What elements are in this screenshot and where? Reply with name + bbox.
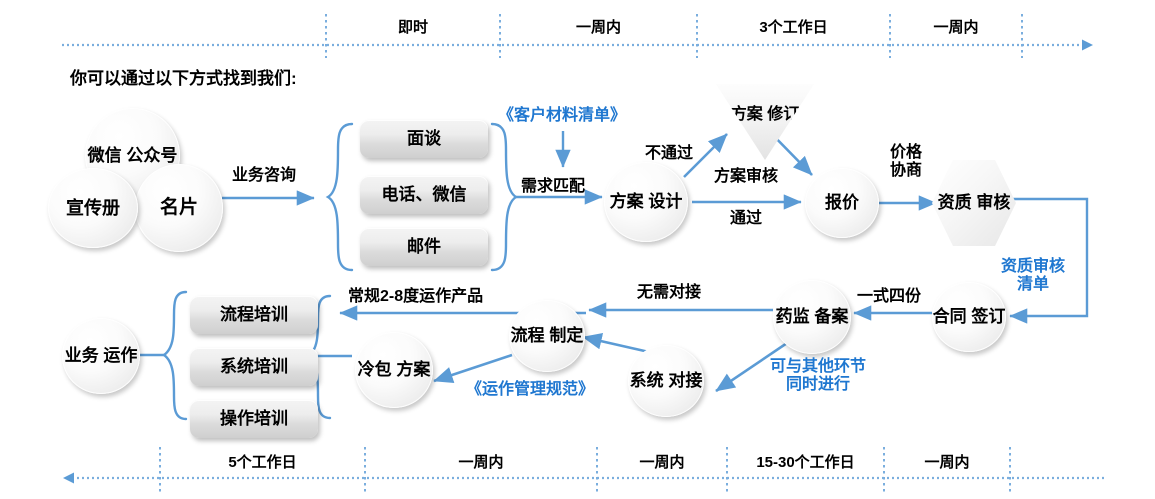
- node-email[interactable]: 邮件: [360, 228, 488, 266]
- edge-label-routine-2-8-degrees: 常规2-8度运作产品: [348, 288, 483, 306]
- edge-label-price-negotiation: 价格 协商: [890, 144, 922, 181]
- node-process-training[interactable]: 流程培训: [190, 296, 318, 334]
- flowchart-canvas: 你可以通过以下方式找到我们: 即时 一周内 3个工作日 一周内 5个工作日 一周…: [0, 0, 1155, 499]
- node-qualification-review[interactable]: 资质 审核: [932, 160, 1016, 246]
- node-wechat-official-label: 微信 公众号: [88, 146, 178, 165]
- node-business-operation-label: 业务 运作: [65, 346, 138, 365]
- node-plan-design[interactable]: 方案 设计: [604, 162, 688, 242]
- node-business-operation[interactable]: 业务 运作: [62, 318, 140, 394]
- bottom-timeline-segment-4: 一周内: [884, 451, 1010, 472]
- node-plan-design-label: 方案 设计: [610, 192, 683, 211]
- top-timeline-segment-0: 即时: [326, 16, 500, 37]
- node-plan-revision[interactable]: 方案 修订: [716, 84, 814, 160]
- edge-label-customer-material-list: 《客户材料清单》: [498, 107, 626, 125]
- node-process-training-label: 流程培训: [220, 305, 288, 324]
- edge-label-demand-matching: 需求匹配: [521, 178, 585, 196]
- node-contract-signing-label: 合同 签订: [933, 307, 1006, 326]
- node-system-training[interactable]: 系统培训: [190, 348, 318, 386]
- node-brochure[interactable]: 宣传册: [48, 168, 138, 248]
- node-cold-chain-plan-label: 冷包 方案: [358, 360, 431, 379]
- node-drug-filing[interactable]: 药监 备案: [773, 280, 851, 354]
- bottom-timeline-segment-2: 一周内: [597, 451, 727, 472]
- node-phone-wechat-label: 电话、微信: [382, 185, 467, 204]
- node-system-docking-label: 系统 对接: [630, 371, 703, 390]
- edge-label-not-passed: 不通过: [645, 145, 693, 163]
- node-phone-wechat[interactable]: 电话、微信: [360, 176, 488, 214]
- node-business-card-label: 名片: [160, 197, 198, 218]
- node-system-training-label: 系统培训: [220, 357, 288, 376]
- top-timeline-segment-1: 一周内: [500, 16, 697, 37]
- node-qualification-review-label: 资质 审核: [938, 193, 1011, 212]
- edge-label-passed: 通过: [730, 210, 762, 228]
- node-plan-revision-label: 方案 修订: [731, 106, 799, 124]
- node-brochure-label: 宣传册: [66, 198, 120, 218]
- note-parallel-step: 可与其他环节 同时进行: [770, 358, 866, 395]
- node-interview-label: 面谈: [407, 129, 441, 148]
- node-cold-chain-plan[interactable]: 冷包 方案: [355, 332, 433, 408]
- top-timeline-segment-3: 一周内: [890, 16, 1022, 37]
- edge-label-no-docking-needed: 无需对接: [637, 284, 701, 302]
- node-drug-filing-label: 药监 备案: [776, 307, 849, 326]
- node-interview[interactable]: 面谈: [360, 120, 488, 158]
- node-operation-training[interactable]: 操作培训: [190, 400, 318, 438]
- edge-label-plan-review: 方案审核: [714, 168, 778, 186]
- node-process-formulation[interactable]: 流程 制定: [509, 300, 585, 372]
- edge-label-business-consult: 业务咨询: [232, 167, 296, 185]
- edge-label-four-copies: 一式四份: [857, 288, 921, 306]
- node-system-docking[interactable]: 系统 对接: [628, 345, 704, 417]
- edge-label-operation-spec: 《运作管理规范》: [466, 381, 594, 399]
- page-title: 你可以通过以下方式找到我们:: [70, 64, 297, 89]
- node-process-formulation-label: 流程 制定: [511, 326, 584, 345]
- node-business-card[interactable]: 名片: [135, 164, 223, 252]
- node-email-label: 邮件: [407, 237, 441, 256]
- top-timeline-segment-2: 3个工作日: [697, 16, 890, 37]
- node-contract-signing[interactable]: 合同 签订: [932, 282, 1006, 352]
- node-quotation[interactable]: 报价: [805, 168, 879, 238]
- node-quotation-label: 报价: [825, 193, 859, 212]
- bottom-timeline-segment-3: 15-30个工作日: [727, 451, 884, 472]
- node-operation-training-label: 操作培训: [220, 409, 288, 428]
- bottom-timeline-segment-1: 一周内: [365, 451, 597, 472]
- edge-label-qualification-checklist: 资质审核 清单: [1001, 258, 1065, 295]
- bottom-timeline-segment-0: 5个工作日: [160, 451, 365, 472]
